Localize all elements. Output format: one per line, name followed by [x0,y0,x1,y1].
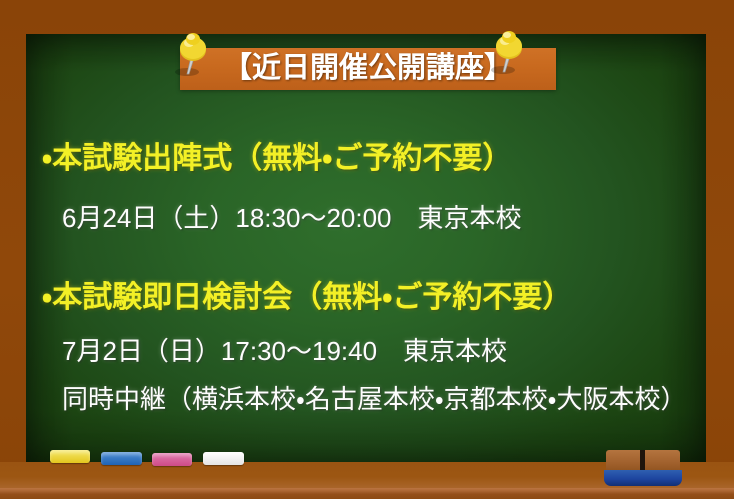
chalk-tray-highlight [0,488,734,494]
chalk-yellow [50,450,90,463]
announcement-heading-1: ・本試験出陣式（無料・ご予約不要） [42,133,512,177]
blackboard-eraser [604,450,682,486]
announcement-detail-1-1: 6月24日（土）18:30～20:00 東京本校 [62,198,522,235]
eraser-felt [604,470,682,486]
announcement-detail-2-2: 同時中継（横浜本校・名古屋本校・京都本校・大阪本校） [62,379,687,416]
announcement-list: ・本試験出陣式（無料・ご予約不要） 6月24日（土）18:30～20:00 東京… [0,0,734,499]
blackboard-screen: 【近日開催公開講座】 [0,0,734,499]
chalk-blue [101,452,142,465]
chalk-pink [152,453,192,466]
announcement-detail-2-1: 7月2日（日）17:30～19:40 東京本校 [62,331,507,368]
eraser-seam [640,450,645,472]
announcement-heading-2: ・本試験即日検討会（無料・ご予約不要） [42,272,572,316]
chalk-white [203,452,244,465]
